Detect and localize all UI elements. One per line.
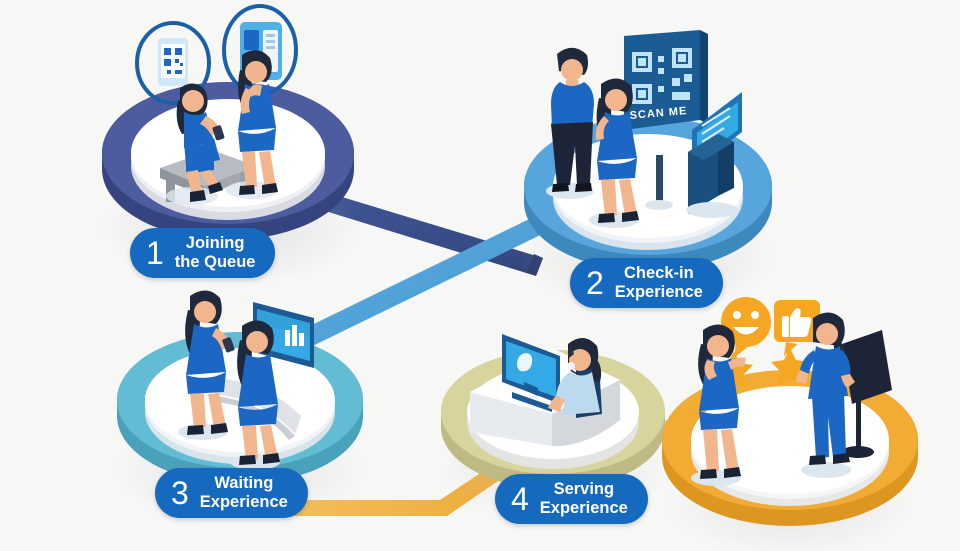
step-badge-3[interactable]: 3 Waiting Experience xyxy=(155,468,308,518)
step-number-4: 4 xyxy=(511,483,529,515)
step-badge-1[interactable]: 1 Joining the Queue xyxy=(130,228,275,278)
step-5-circle[interactable] xyxy=(662,370,918,551)
step-label-2: Check-in Experience xyxy=(615,264,703,301)
step-number-1: 1 xyxy=(146,237,164,269)
step-label-1: Joining the Queue xyxy=(175,234,256,271)
step-badge-4[interactable]: 4 Serving Experience xyxy=(495,474,648,524)
step-label-3: Waiting Experience xyxy=(200,474,288,511)
step-number-2: 2 xyxy=(586,267,604,299)
step-number-3: 3 xyxy=(171,477,189,509)
step-label-4: Serving Experience xyxy=(540,480,628,517)
step-badge-2[interactable]: 2 Check-in Experience xyxy=(570,258,723,308)
